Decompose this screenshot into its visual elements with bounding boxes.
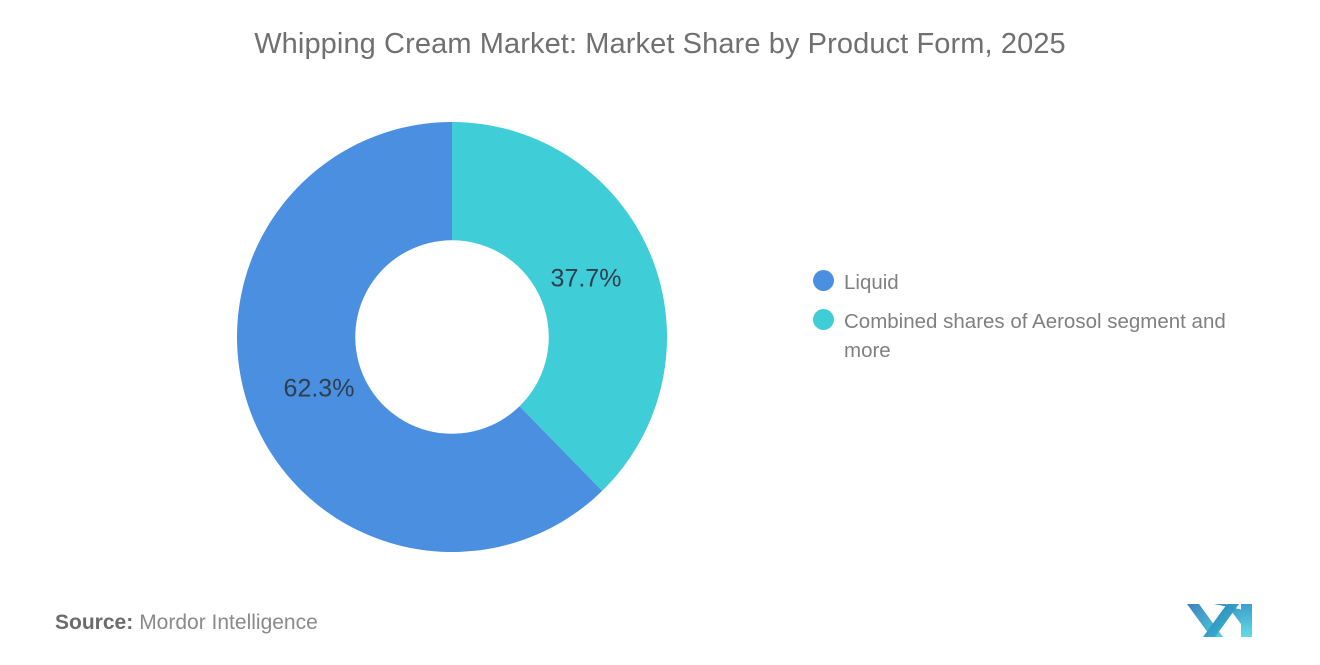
slice-label-liquid: 62.3% xyxy=(284,375,355,403)
legend-item-aerosol[interactable]: Combined shares of Aerosol segment and m… xyxy=(813,307,1283,365)
mordor-intelligence-logo-icon xyxy=(1183,597,1259,639)
donut-slices xyxy=(237,122,667,552)
chart-legend: Liquid Combined shares of Aerosol segmen… xyxy=(813,268,1283,375)
legend-swatch-icon xyxy=(813,309,834,330)
source-line: Source:Mordor Intelligence xyxy=(55,611,318,635)
slice-label-aerosol: 37.7% xyxy=(551,265,622,293)
legend-item-liquid[interactable]: Liquid xyxy=(813,268,1283,297)
legend-item-label: Liquid xyxy=(844,268,899,297)
brand-logo-svg xyxy=(1183,597,1259,639)
legend-item-label: Combined shares of Aerosol segment and m… xyxy=(844,307,1264,365)
source-value: Mordor Intelligence xyxy=(139,611,318,634)
donut-chart-svg: 62.3% 37.7% xyxy=(237,122,667,552)
chart-canvas: Whipping Cream Market: Market Share by P… xyxy=(0,0,1320,665)
source-label: Source: xyxy=(55,611,133,634)
legend-swatch-icon xyxy=(813,270,834,291)
page-title: Whipping Cream Market: Market Share by P… xyxy=(0,28,1320,61)
donut-chart: 62.3% 37.7% xyxy=(237,122,667,552)
